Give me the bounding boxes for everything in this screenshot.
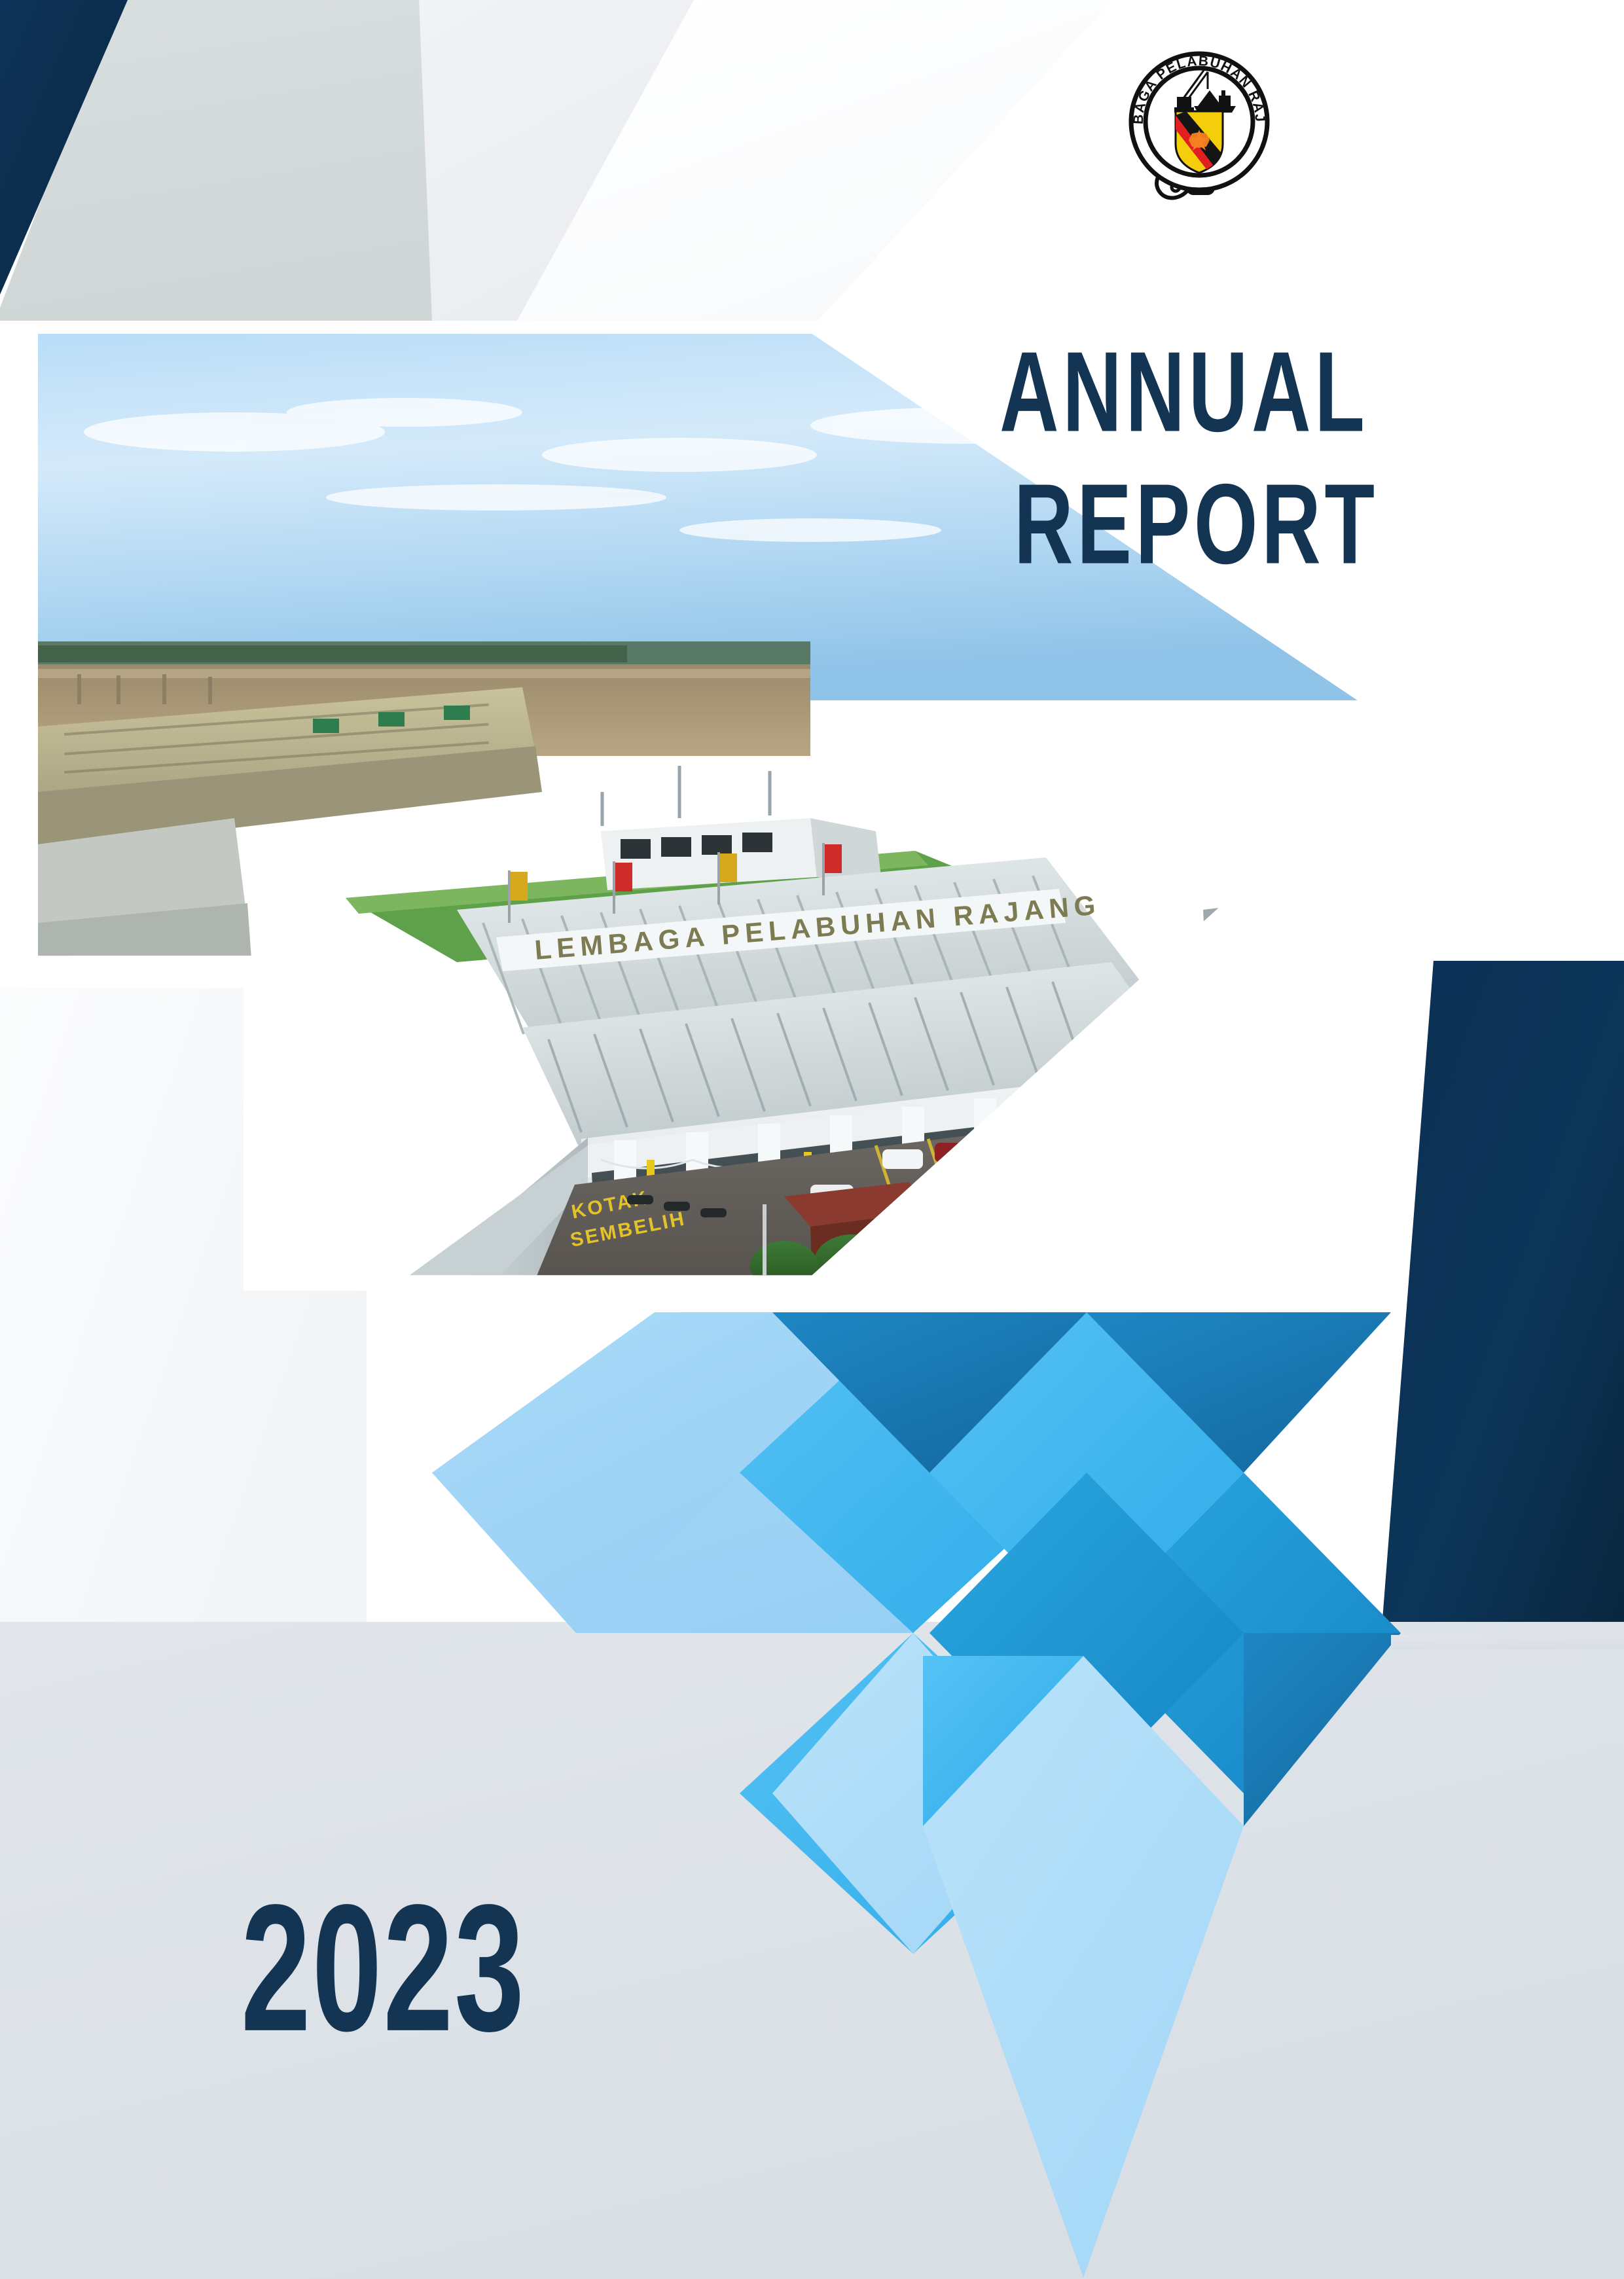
page-title-line-2: REPORT — [1014, 467, 1379, 581]
navy-gray-seam — [1391, 1635, 1624, 1649]
lembaga-pelabuhan-rajang-emblem: LEMBAGA PELABUHAN RAJANG — [1121, 38, 1278, 208]
svg-text:SIN YANG: SIN YANG — [1262, 1227, 1363, 1246]
annual-report-cover: LEMBAGA PELABUHAN RAJANG — [0, 0, 1624, 2279]
report-year: 2023 — [241, 1878, 526, 2059]
crane-base — [1177, 97, 1191, 107]
page-title-line-1: ANNUAL — [1000, 335, 1369, 449]
logo-container: LEMBAGA PELABUHAN RAJANG — [1121, 38, 1278, 208]
